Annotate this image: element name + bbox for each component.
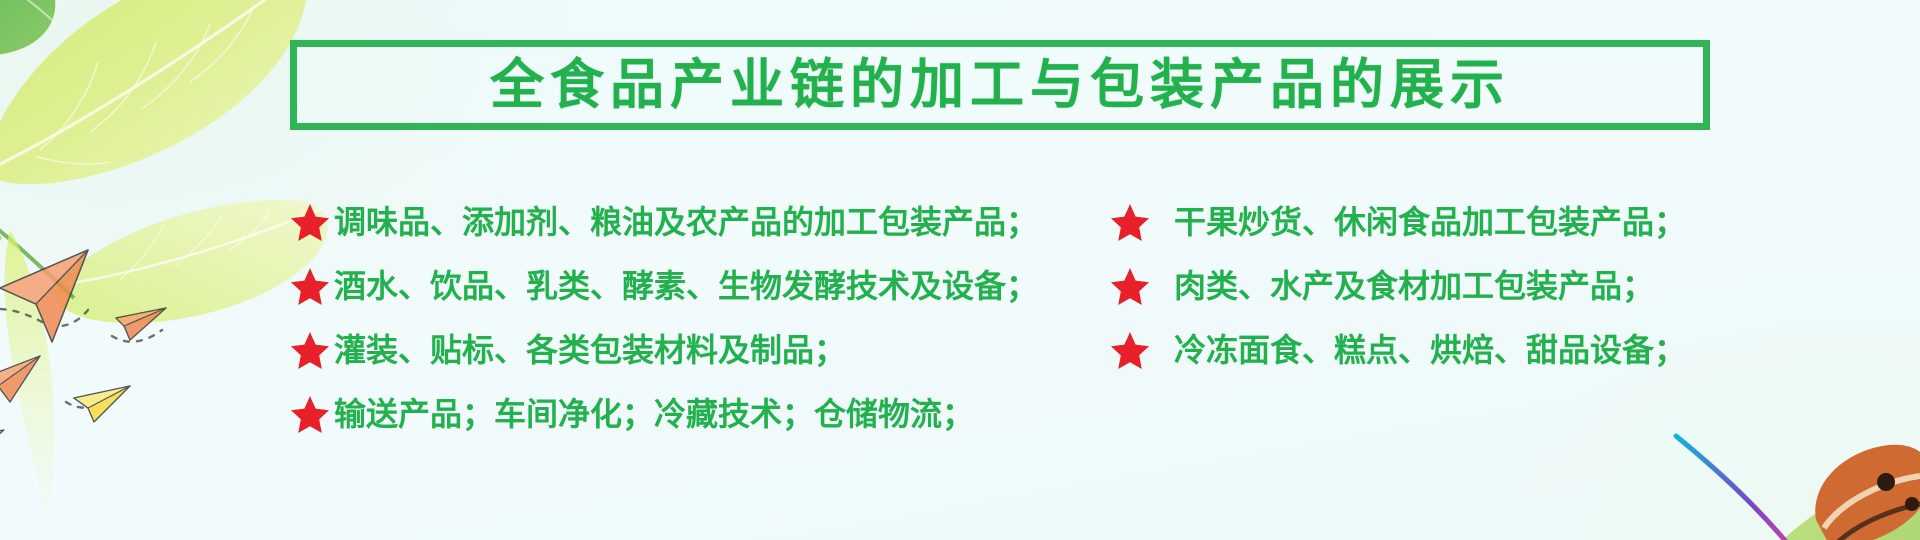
list-item-label: 干果炒货、休闲食品加工包装产品； <box>1174 206 1686 238</box>
star-icon <box>290 395 330 433</box>
list-item[interactable]: 酒水、饮品、乳类、酵素、生物发酵技术及设备； <box>290 254 1110 318</box>
feature-list-left-column: 调味品、添加剂、粮油及农产品的加工包装产品； 酒水、饮品、乳类、酵素、生物发酵技… <box>290 190 1110 446</box>
title-frame: 全食品产业链的加工与包装产品的展示 <box>290 40 1710 130</box>
list-item-label: 酒水、饮品、乳类、酵素、生物发酵技术及设备； <box>334 270 1038 302</box>
list-item-label: 冷冻面食、糕点、烘焙、甜品设备； <box>1174 334 1686 366</box>
list-item-label: 肉类、水产及食材加工包装产品； <box>1174 270 1654 302</box>
list-item[interactable]: 冷冻面食、糕点、烘焙、甜品设备； <box>1110 318 1810 382</box>
list-item-label: 调味品、添加剂、粮油及农产品的加工包装产品； <box>334 206 1038 238</box>
star-icon <box>1110 331 1150 369</box>
list-item-label: 灌装、贴标、各类包装材料及制品； <box>334 334 846 366</box>
list-item[interactable]: 肉类、水产及食材加工包装产品； <box>1110 254 1810 318</box>
star-icon <box>1110 267 1150 305</box>
star-icon <box>290 267 330 305</box>
star-icon <box>290 331 330 369</box>
star-icon <box>290 203 330 241</box>
feature-list: 调味品、添加剂、粮油及农产品的加工包装产品； 酒水、饮品、乳类、酵素、生物发酵技… <box>290 190 1810 490</box>
list-item[interactable]: 干果炒货、休闲食品加工包装产品； <box>1110 190 1810 254</box>
feature-list-right-column: 干果炒货、休闲食品加工包装产品； 肉类、水产及食材加工包装产品； 冷冻面食、糕点… <box>1110 190 1810 382</box>
list-item[interactable]: 灌装、贴标、各类包装材料及制品； <box>290 318 1110 382</box>
star-icon <box>1110 203 1150 241</box>
list-item-label: 输送产品；车间净化；冷藏技术；仓储物流； <box>334 398 974 430</box>
paper-plane-icon <box>0 230 270 540</box>
list-item[interactable]: 调味品、添加剂、粮油及农产品的加工包装产品； <box>290 190 1110 254</box>
page-title: 全食品产业链的加工与包装产品的展示 <box>490 58 1510 112</box>
list-item[interactable]: 输送产品；车间净化；冷藏技术；仓储物流； <box>290 382 1110 446</box>
promo-banner: 全食品产业链的加工与包装产品的展示 调味品、添加剂、粮油及农产品的加工包装产品；… <box>0 0 1920 540</box>
